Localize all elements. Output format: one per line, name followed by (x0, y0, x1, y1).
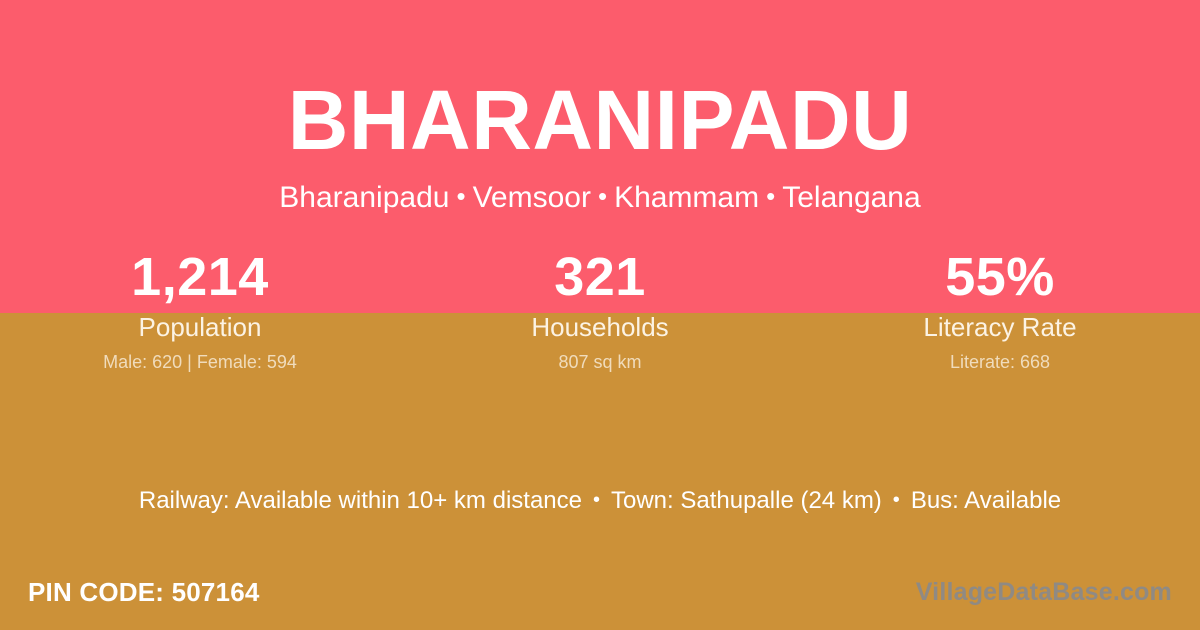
stat-label: Population (0, 312, 400, 342)
amenity-town: Town: Sathupalle (24 km) (611, 487, 882, 514)
brand-watermark: VillageDataBase.com (916, 577, 1172, 607)
breadcrumb-separator-icon: • (759, 181, 782, 211)
stats-row: 1,214 Population Male: 620 | Female: 594… (0, 248, 1200, 373)
breadcrumb-item-district: Khammam (614, 181, 759, 214)
page-title: BHARANIPADU (0, 0, 1200, 162)
amenity-separator-icon: • (882, 489, 911, 511)
stat-value: 321 (400, 248, 800, 306)
stat-value: 55% (800, 248, 1200, 306)
breadcrumb-item-state: Telangana (782, 181, 920, 214)
breadcrumb-separator-icon: • (591, 181, 614, 211)
stat-label: Literacy Rate (800, 312, 1200, 342)
stat-sublabel: Male: 620 | Female: 594 (0, 351, 400, 373)
village-info-card: BHARANIPADU Bharanipadu•Vemsoor•Khammam•… (0, 0, 1200, 630)
stat-sublabel: Literate: 668 (800, 351, 1200, 373)
bottom-bar: PIN CODE: 507164 VillageDataBase.com (0, 554, 1200, 630)
title-block: BHARANIPADU Bharanipadu•Vemsoor•Khammam•… (0, 0, 1200, 213)
pin-code: PIN CODE: 507164 (28, 577, 260, 607)
amenity-bus: Bus: Available (911, 487, 1061, 514)
amenities-line: Railway: Available within 10+ km distanc… (0, 485, 1200, 516)
stat-sublabel: 807 sq km (400, 351, 800, 373)
breadcrumb-separator-icon: • (449, 181, 472, 211)
stat-population: 1,214 Population Male: 620 | Female: 594 (0, 248, 400, 373)
stat-value: 1,214 (0, 248, 400, 306)
stat-label: Households (400, 312, 800, 342)
breadcrumb: Bharanipadu•Vemsoor•Khammam•Telangana (0, 162, 1200, 213)
amenity-railway: Railway: Available within 10+ km distanc… (139, 487, 582, 514)
breadcrumb-item-mandal: Vemsoor (473, 181, 591, 214)
breadcrumb-item-village: Bharanipadu (279, 181, 449, 214)
stat-households: 321 Households 807 sq km (400, 248, 800, 373)
amenity-separator-icon: • (582, 489, 611, 511)
stat-literacy-rate: 55% Literacy Rate Literate: 668 (800, 248, 1200, 373)
